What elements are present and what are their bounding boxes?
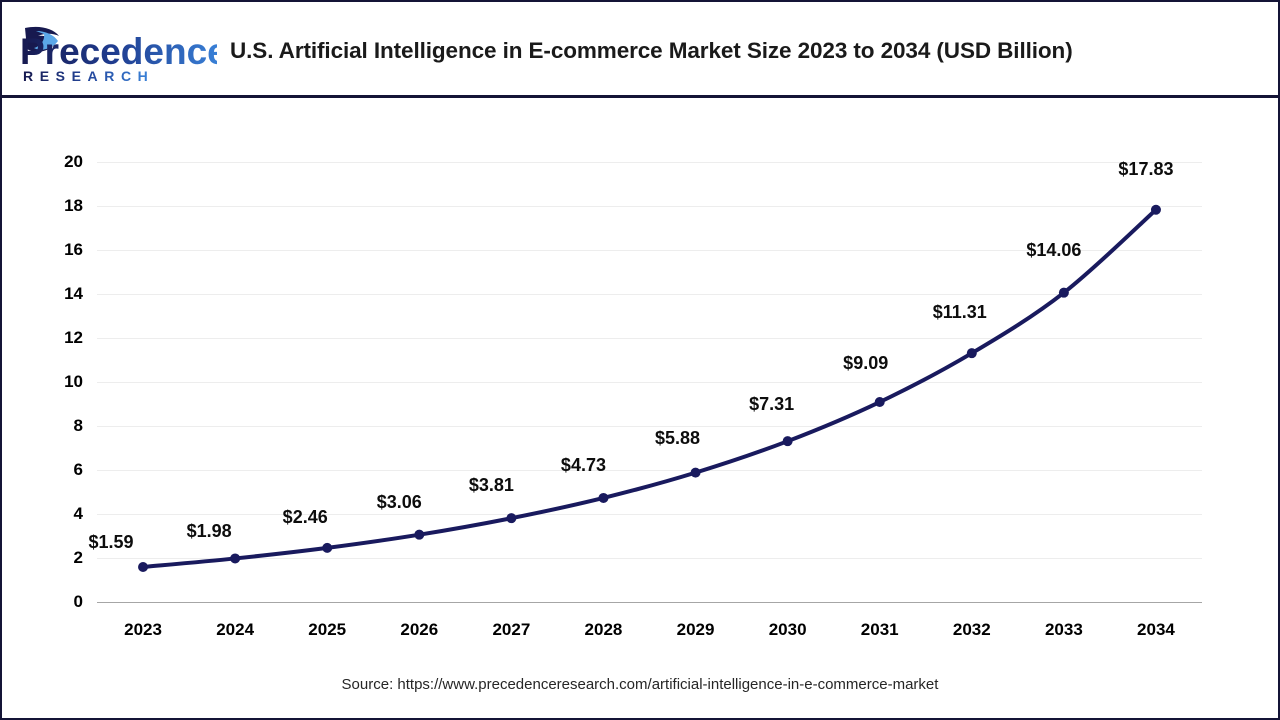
x-axis-tick-label: 2023 [124, 620, 162, 640]
data-point-marker [414, 530, 424, 540]
data-point-marker [783, 436, 793, 446]
page-title: U.S. Artificial Intelligence in E-commer… [230, 38, 1260, 64]
data-point-marker [691, 468, 701, 478]
data-point-marker [230, 553, 240, 563]
x-axis-tick-label: 2027 [492, 620, 530, 640]
data-point-label: $7.31 [749, 394, 794, 415]
plot-area: 02468101214161820 2023202420252026202720… [97, 162, 1202, 602]
x-axis-tick-label: 2028 [585, 620, 623, 640]
y-axis-tick-label: 0 [74, 592, 83, 612]
data-point-marker [138, 562, 148, 572]
data-point-label: $9.09 [843, 353, 888, 374]
x-axis-tick-label: 2025 [308, 620, 346, 640]
data-point-label: $1.98 [187, 521, 232, 542]
axis-baseline [97, 602, 1202, 603]
data-point-marker [875, 397, 885, 407]
data-point-label: $17.83 [1118, 159, 1173, 180]
y-axis-tick-label: 16 [64, 240, 83, 260]
x-axis-tick-label: 2030 [769, 620, 807, 640]
x-axis-tick-label: 2026 [400, 620, 438, 640]
y-axis-tick-label: 18 [64, 196, 83, 216]
data-point-marker [322, 543, 332, 553]
source-note: Source: https://www.precedenceresearch.c… [2, 676, 1278, 693]
data-point-label: $2.46 [283, 507, 328, 528]
data-point-marker [967, 348, 977, 358]
x-axis-tick-label: 2034 [1137, 620, 1175, 640]
precedence-research-logo: Precedence RESEARCH [12, 22, 217, 84]
chart-region: 02468101214161820 2023202420252026202720… [2, 101, 1278, 719]
data-point-label: $1.59 [89, 532, 134, 553]
data-point-label: $5.88 [655, 428, 700, 449]
y-axis-tick-label: 20 [64, 152, 83, 172]
y-axis-tick-label: 6 [74, 460, 83, 480]
logo-wordmark: Precedence [20, 31, 217, 72]
data-point-label: $14.06 [1026, 240, 1081, 261]
y-axis-tick-label: 2 [74, 548, 83, 568]
y-axis-tick-label: 4 [74, 504, 83, 524]
line-series-svg [97, 162, 1202, 602]
data-point-marker [1059, 288, 1069, 298]
x-axis-tick-label: 2033 [1045, 620, 1083, 640]
data-point-label: $11.31 [933, 302, 987, 323]
data-point-marker [1151, 205, 1161, 215]
x-axis-tick-label: 2024 [216, 620, 254, 640]
data-point-marker [506, 513, 516, 523]
y-axis-tick-label: 10 [64, 372, 83, 392]
data-point-label: $4.73 [561, 455, 606, 476]
data-point-marker [598, 493, 608, 503]
data-point-label: $3.06 [377, 492, 422, 513]
logo-subwordmark: RESEARCH [23, 68, 154, 84]
precedence-leaf-logo: Precedence RESEARCH [12, 22, 217, 84]
y-axis-tick-label: 12 [64, 328, 83, 348]
x-axis-tick-label: 2031 [861, 620, 899, 640]
page-header: Precedence RESEARCH U.S. Artificial Inte… [2, 2, 1278, 98]
data-point-label: $3.81 [469, 475, 514, 496]
y-axis-tick-label: 14 [64, 284, 83, 304]
x-axis-tick-label: 2029 [677, 620, 715, 640]
y-axis-tick-label: 8 [74, 416, 83, 436]
chart-page: Precedence RESEARCH U.S. Artificial Inte… [0, 0, 1280, 720]
x-axis-tick-label: 2032 [953, 620, 991, 640]
